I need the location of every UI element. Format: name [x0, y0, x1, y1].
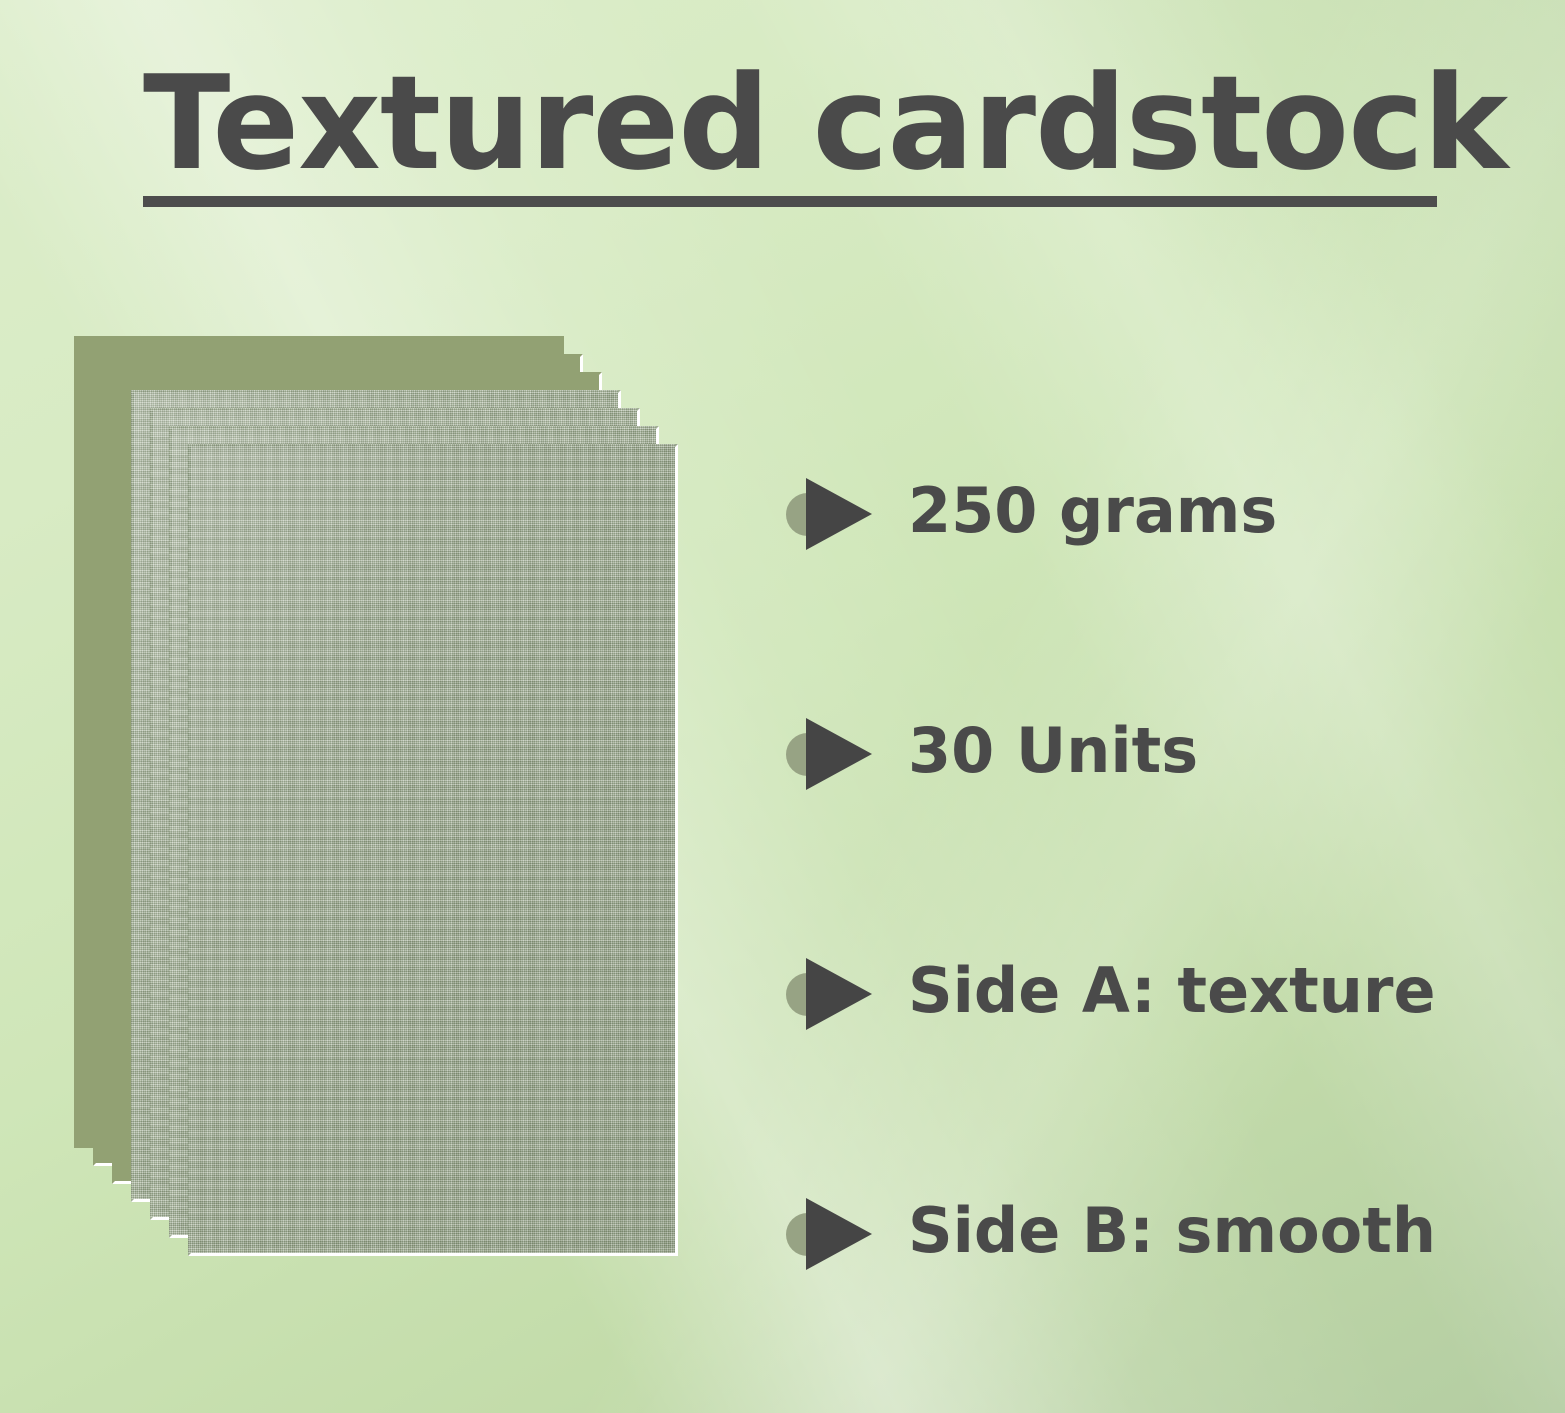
bullet-triangle-icon: [806, 718, 872, 790]
feature-label-side-a: Side A: texture: [908, 932, 1436, 1050]
product-infographic: Textured cardstock 250 grams 30 Units: [0, 0, 1565, 1413]
cardstock-stack-image: [74, 336, 694, 1276]
feature-item-weight: 250 grams: [786, 452, 1526, 692]
arrow-bullet-icon: [786, 478, 878, 550]
feature-item-quantity: 30 Units: [786, 692, 1526, 932]
bullet-triangle-icon: [806, 478, 872, 550]
arrow-bullet-icon: [786, 958, 878, 1030]
feature-label-weight: 250 grams: [908, 452, 1277, 570]
feature-label-side-b: Side B: smooth: [908, 1172, 1436, 1290]
feature-list: 250 grams 30 Units Side A: texture Side …: [786, 452, 1526, 1412]
feature-item-side-b: Side B: smooth: [786, 1172, 1526, 1412]
page-title: Textured cardstock: [143, 58, 1443, 207]
page-title-text: Textured cardstock: [143, 58, 1424, 188]
arrow-bullet-icon: [786, 1198, 878, 1270]
arrow-bullet-icon: [786, 718, 878, 790]
bullet-triangle-icon: [806, 1198, 872, 1270]
feature-item-side-a: Side A: texture: [786, 932, 1526, 1172]
feature-label-quantity: 30 Units: [908, 692, 1198, 810]
cardstock-sheet-front: [188, 444, 678, 1256]
bullet-triangle-icon: [806, 958, 872, 1030]
